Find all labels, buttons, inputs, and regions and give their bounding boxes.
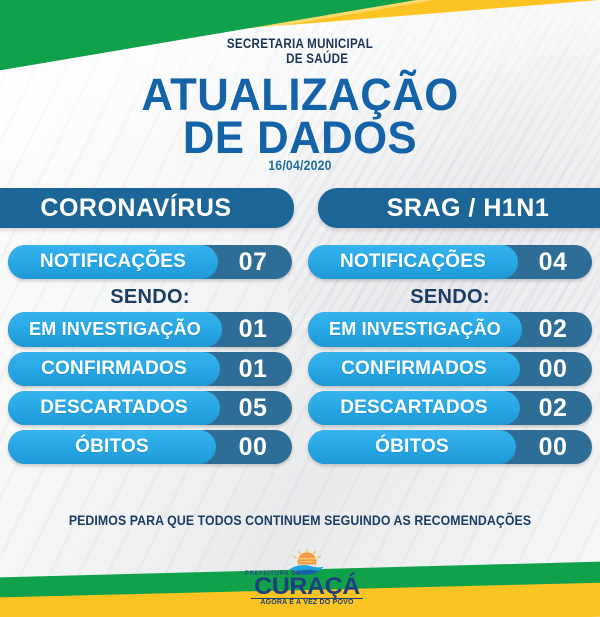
stat-row-obitos: ÓBITOS 00 (8, 430, 292, 464)
stat-label: EM INVESTIGAÇÃO (329, 319, 501, 340)
stat-row-notificacoes: NOTIFICAÇÕES 04 (308, 245, 592, 279)
stat-label: EM INVESTIGAÇÃO (29, 319, 201, 340)
stat-value: 02 (514, 312, 592, 347)
stat-label: ÓBITOS (75, 436, 149, 458)
breakdown-label: SENDO: (8, 284, 292, 310)
city-logo: PREFEITURA DE CURAÇÁ AGORA É A VEZ DO PO… (243, 549, 371, 613)
stat-label-pill: CONFIRMADOS (8, 352, 220, 386)
footer-message: PEDIMOS PARA QUE TODOS CONTINUEM SEGUIND… (36, 512, 564, 528)
column-heading-coronavirus-label: CORONAVÍRUS (40, 194, 231, 223)
stat-row-obitos: ÓBITOS 00 (308, 430, 592, 464)
stat-label-pill: DESCARTADOS (8, 391, 220, 425)
stat-label-pill: NOTIFICAÇÕES (308, 245, 518, 279)
stat-label: CONFIRMADOS (341, 358, 487, 380)
stat-label-pill: CONFIRMADOS (308, 352, 520, 386)
column-heading-coronavirus: CORONAVÍRUS (0, 188, 294, 228)
stat-row-descartados: DESCARTADOS 05 (8, 391, 292, 425)
breakdown-label: SENDO: (308, 284, 592, 310)
stat-row-em-investigacao: EM INVESTIGAÇÃO 01 (8, 312, 292, 347)
stat-label-pill: ÓBITOS (308, 430, 516, 464)
column-heading-srag-h1n1-label: SRAG / H1N1 (387, 194, 549, 223)
stat-label-pill: NOTIFICAÇÕES (8, 245, 218, 279)
stat-value: 00 (514, 352, 592, 386)
stat-label: NOTIFICAÇÕES (340, 251, 486, 273)
stat-label-pill: EM INVESTIGAÇÃO (308, 312, 522, 347)
stat-label-pill: EM INVESTIGAÇÃO (8, 312, 222, 347)
stats-column-srag-h1n1: NOTIFICAÇÕES 04 SENDO: EM INVESTIGAÇÃO 0… (308, 245, 592, 469)
stat-label: ÓBITOS (375, 436, 449, 458)
stat-value: 01 (214, 312, 292, 347)
organization-name: SECRETARIA MUNICIPAL DE SAÚDE (42, 36, 558, 66)
infographic-poster: SECRETARIA MUNICIPAL DE SAÚDE ATUALIZAÇÃ… (0, 0, 600, 617)
stat-value: 02 (514, 391, 592, 425)
stat-label: DESCARTADOS (340, 397, 488, 419)
stat-label-pill: DESCARTADOS (308, 391, 520, 425)
organization-line-2: DE SAÚDE (42, 51, 558, 66)
organization-line-1: SECRETARIA MUNICIPAL (227, 36, 373, 51)
stat-row-notificacoes: NOTIFICAÇÕES 07 (8, 245, 292, 279)
report-date: 16/04/2020 (36, 157, 564, 173)
stat-label: CONFIRMADOS (41, 358, 187, 380)
logo-slogan: AGORA É A VEZ DO POVO (243, 599, 371, 606)
stat-row-em-investigacao: EM INVESTIGAÇÃO 02 (308, 312, 592, 347)
stat-value: 05 (214, 391, 292, 425)
stat-value: 00 (214, 430, 292, 464)
column-heading-srag-h1n1: SRAG / H1N1 (318, 188, 600, 228)
stat-value: 00 (514, 430, 592, 464)
stat-label: DESCARTADOS (40, 397, 188, 419)
stat-row-descartados: DESCARTADOS 02 (308, 391, 592, 425)
stats-column-coronavirus: NOTIFICAÇÕES 07 SENDO: EM INVESTIGAÇÃO 0… (8, 245, 292, 469)
page-title: ATUALIZAÇÃO DE DADOS (9, 76, 591, 157)
stat-label-pill: ÓBITOS (8, 430, 216, 464)
stat-row-confirmados: CONFIRMADOS 01 (8, 352, 292, 386)
stat-value: 04 (514, 245, 592, 279)
stat-value: 07 (214, 245, 292, 279)
logo-city-name: CURAÇÁ (240, 575, 373, 599)
stat-label: NOTIFICAÇÕES (40, 251, 186, 273)
page-title-line-2: DE DADOS (9, 119, 591, 157)
stat-row-confirmados: CONFIRMADOS 00 (308, 352, 592, 386)
stat-value: 01 (214, 352, 292, 386)
logo-emblem (243, 549, 371, 573)
